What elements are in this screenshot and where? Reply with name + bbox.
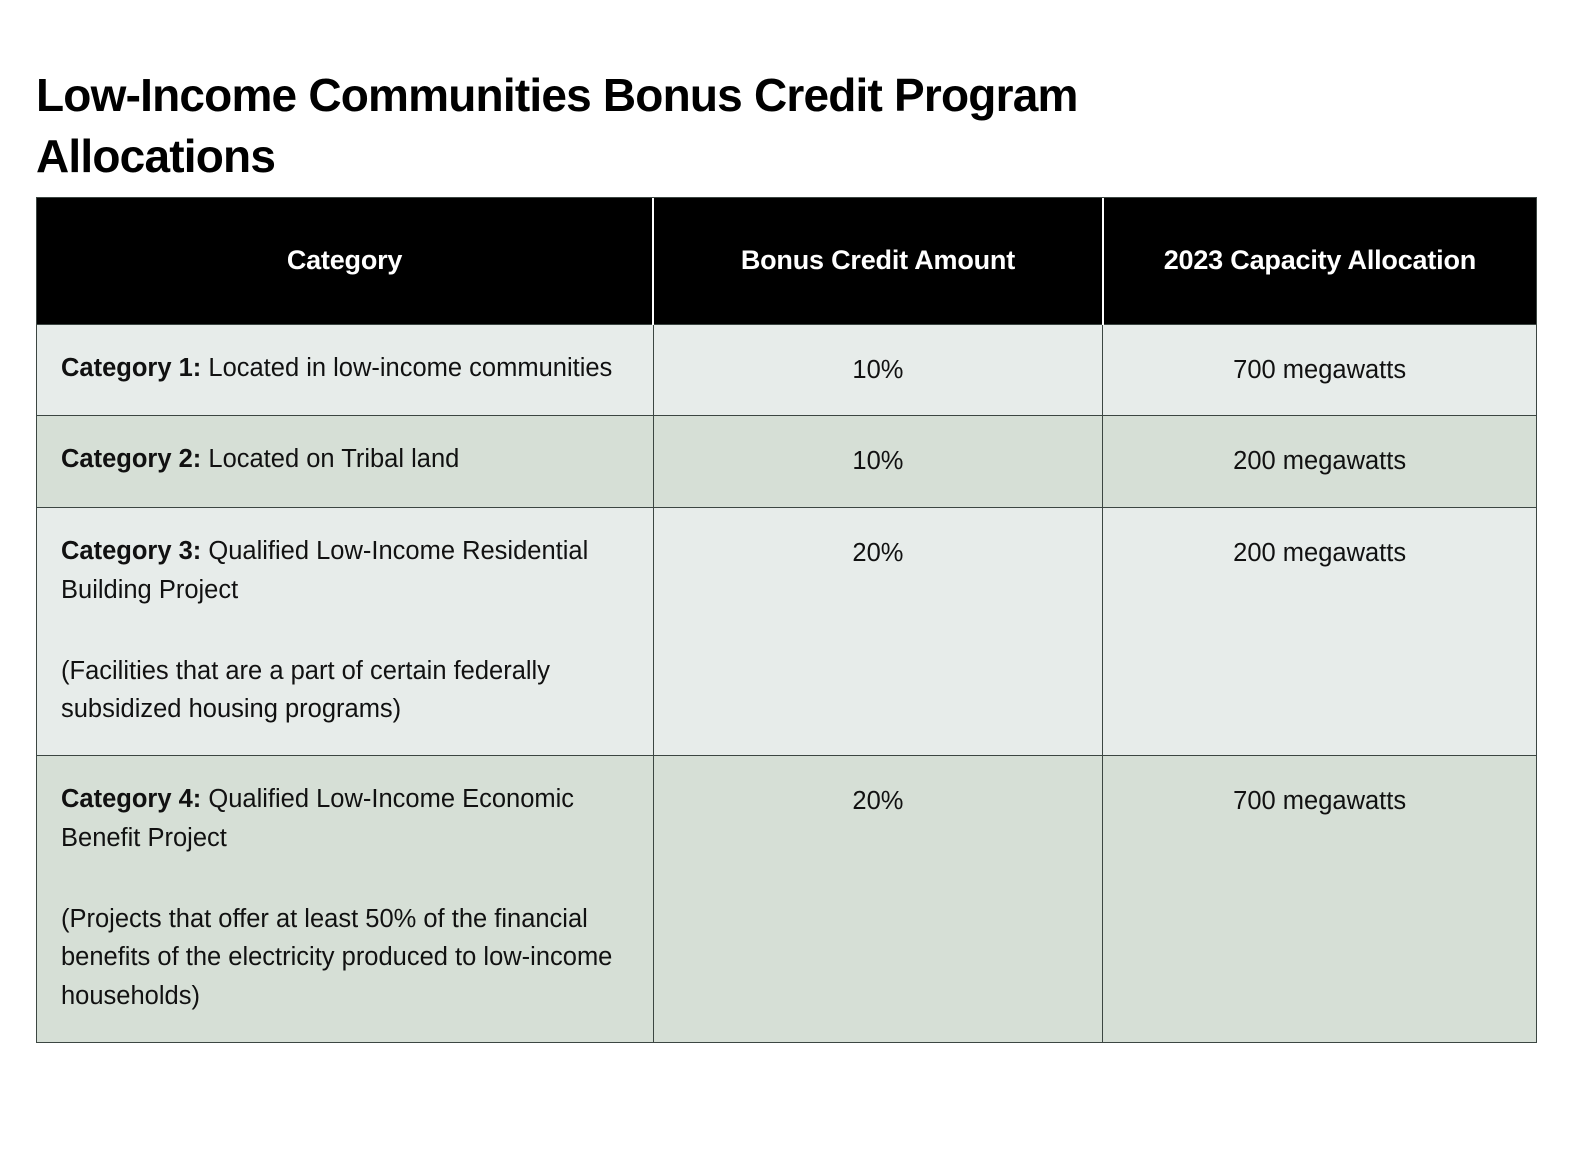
table-header: Category Bonus Credit Amount 2023 Capaci…: [37, 198, 1536, 324]
cell-bonus-credit-amount: 10%: [653, 416, 1103, 508]
cell-category: Category 1: Located in low-income commun…: [37, 324, 653, 416]
page-title: Low-Income Communities Bonus Credit Prog…: [36, 65, 1456, 187]
category-note: (Projects that offer at least 50% of the…: [61, 900, 629, 1016]
category-label: Category 2:: [61, 445, 201, 473]
table-row: Category 2: Located on Tribal land 10% 2…: [37, 416, 1536, 508]
column-header-category: Category: [37, 198, 653, 324]
category-label: Category 3:: [61, 537, 201, 565]
page-root: Low-Income Communities Bonus Credit Prog…: [0, 0, 1593, 1167]
category-label: Category 1:: [61, 354, 201, 382]
category-note: (Facilities that are a part of certain f…: [61, 652, 629, 730]
cell-category: Category 2: Located on Tribal land: [37, 416, 653, 508]
cell-capacity-allocation: 200 megawatts: [1103, 508, 1536, 756]
table-header-row: Category Bonus Credit Amount 2023 Capaci…: [37, 198, 1536, 324]
column-header-capacity-allocation: 2023 Capacity Allocation: [1103, 198, 1536, 324]
category-description: Located on Tribal land: [201, 445, 459, 473]
column-header-bonus-credit-amount: Bonus Credit Amount: [653, 198, 1103, 324]
cell-capacity-allocation: 700 megawatts: [1103, 756, 1536, 1042]
category-description: Located in low-income communities: [201, 354, 612, 382]
cell-bonus-credit-amount: 10%: [653, 324, 1103, 416]
cell-category: Category 3: Qualified Low-Income Residen…: [37, 508, 653, 756]
allocations-table-container: Category Bonus Credit Amount 2023 Capaci…: [36, 197, 1537, 1043]
cell-bonus-credit-amount: 20%: [653, 508, 1103, 756]
table-row: Category 1: Located in low-income commun…: [37, 324, 1536, 416]
cell-capacity-allocation: 200 megawatts: [1103, 416, 1536, 508]
allocations-table: Category Bonus Credit Amount 2023 Capaci…: [37, 198, 1536, 1042]
cell-category: Category 4: Qualified Low-Income Economi…: [37, 756, 653, 1042]
table-row: Category 3: Qualified Low-Income Residen…: [37, 508, 1536, 756]
category-label: Category 4:: [61, 785, 201, 813]
table-body: Category 1: Located in low-income commun…: [37, 324, 1536, 1042]
cell-bonus-credit-amount: 20%: [653, 756, 1103, 1042]
cell-capacity-allocation: 700 megawatts: [1103, 324, 1536, 416]
table-row: Category 4: Qualified Low-Income Economi…: [37, 756, 1536, 1042]
